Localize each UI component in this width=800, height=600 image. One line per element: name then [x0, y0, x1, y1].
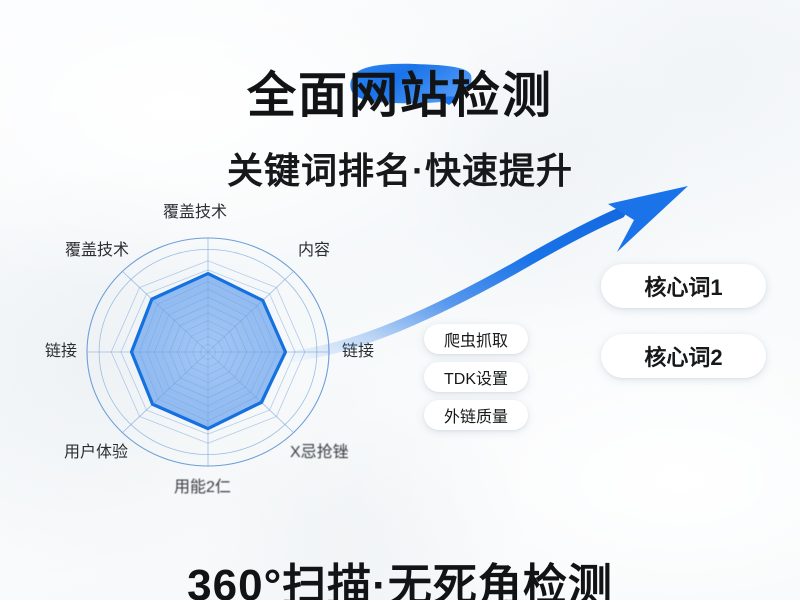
radar-axis-label-0: 覆盖技术	[163, 203, 227, 223]
radar-axis-label-6: 链接	[45, 342, 77, 362]
poster-canvas: 全面网站检测 关键词排名·快速提升 覆盖技术 内容 链接 X忌抢锉 用能2仁 用…	[0, 0, 800, 600]
tag-pill-crawler[interactable]: 爬虫抓取	[424, 324, 528, 354]
keyword-pill-label: 核心词1	[644, 270, 722, 302]
tag-pill-label: TDK设置	[444, 365, 508, 389]
radar-axis-label-4: 用能2仁	[174, 478, 231, 498]
tag-pill-backlink[interactable]: 外链质量	[424, 400, 528, 430]
keyword-pill-1[interactable]: 核心词1	[601, 264, 766, 308]
tag-pill-label: 外链质量	[444, 403, 508, 427]
keyword-pill-2[interactable]: 核心词2	[601, 334, 766, 378]
radar-axis-label-3: X忌抢锉	[290, 443, 349, 463]
tag-pill-label: 爬虫抓取	[444, 327, 508, 351]
tag-pill-tdk[interactable]: TDK设置	[424, 362, 528, 392]
radar-axis-label-5: 用户体验	[64, 443, 128, 463]
page-title-bottom: 360°扫描·无死角检测	[0, 558, 800, 600]
page-title-sub: 关键词排名·快速提升	[0, 148, 800, 194]
keyword-pill-label: 核心词2	[644, 340, 722, 372]
page-title-main: 全面网站检测	[0, 66, 800, 126]
radar-axis-label-7: 覆盖技术	[65, 241, 129, 261]
